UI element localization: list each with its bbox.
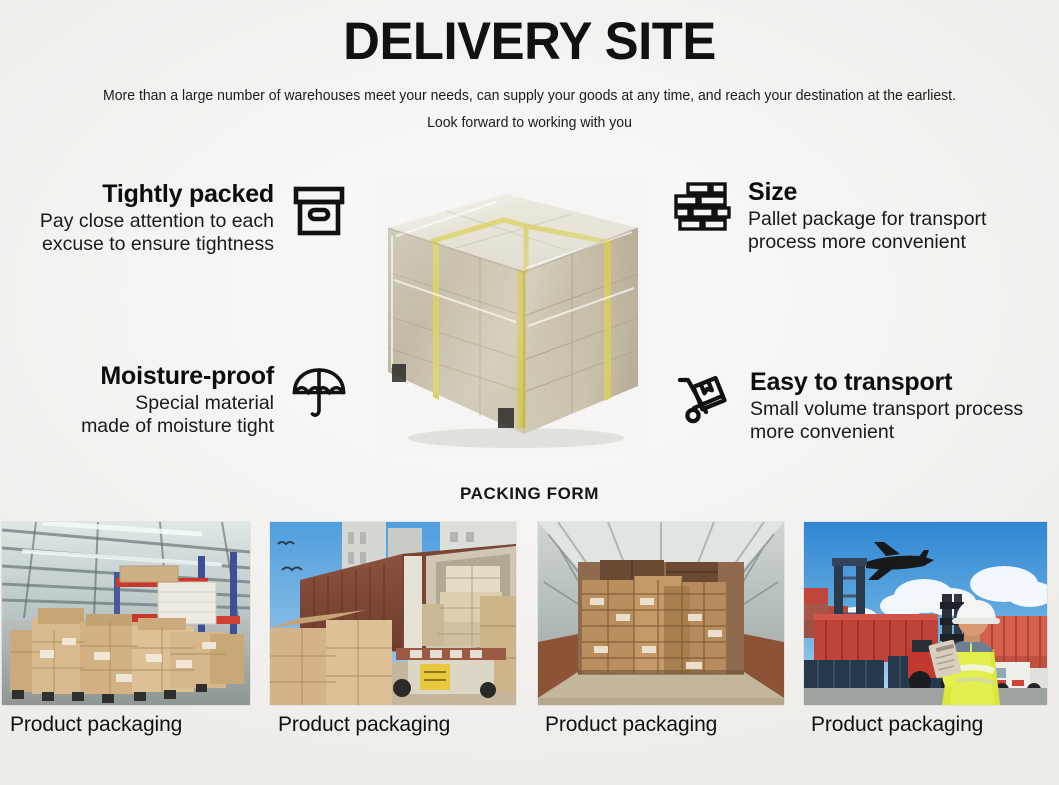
feature-title: Size — [748, 178, 986, 206]
brick-wall-icon — [672, 178, 734, 240]
packing-form-gallery — [0, 522, 1059, 712]
feature-moisture-proof: Moisture-proof Special material made of … — [28, 362, 350, 437]
feature-description-line-2: process more convenient — [748, 231, 986, 254]
container-interior-photo — [538, 522, 784, 705]
gallery-caption: Product packaging — [545, 714, 717, 735]
feature-size: Size Pallet package for transport proces… — [672, 178, 1057, 253]
feature-title: Moisture-proof — [81, 362, 274, 390]
feature-description-line-2: excuse to ensure tightness — [40, 233, 274, 256]
feature-title: Tightly packed — [40, 180, 274, 208]
feature-description: Small volume transport process more conv… — [750, 398, 1023, 443]
archive-box-icon — [288, 180, 350, 242]
feature-description: Special material made of moisture tight — [81, 392, 274, 437]
gallery-caption: Product packaging — [278, 714, 450, 735]
container-loading-photo — [270, 522, 516, 705]
feature-description: Pallet package for transport process mor… — [748, 208, 986, 253]
feature-text-block: Size Pallet package for transport proces… — [748, 178, 986, 253]
gallery-caption: Product packaging — [811, 714, 983, 735]
header-subtitle-line-2: Look forward to working with you — [16, 116, 1043, 131]
gallery-item-container-yard[interactable] — [804, 522, 1047, 705]
feature-description: Pay close attention to each excuse to en… — [40, 210, 274, 255]
gallery-item-warehouse[interactable] — [2, 522, 250, 705]
feature-description-line-2: made of moisture tight — [81, 415, 274, 438]
feature-text-block: Easy to transport Small volume transport… — [750, 368, 1023, 443]
gallery-caption: Product packaging — [10, 714, 182, 735]
page-title: DELIVERY SITE — [21, 14, 1038, 70]
feature-description-line-1: Small volume transport process — [750, 398, 1023, 421]
feature-description-line-1: Special material — [81, 392, 274, 415]
gallery-captions: Product packaging Product packaging Prod… — [0, 714, 1059, 754]
feature-title: Easy to transport — [750, 368, 1023, 396]
page-header: DELIVERY SITE More than a large number o… — [0, 14, 1059, 131]
wrapped-pallet-photo — [376, 176, 648, 454]
feature-tightly-packed: Tightly packed Pay close attention to ea… — [2, 180, 350, 255]
feature-description-line-1: Pallet package for transport — [748, 208, 986, 231]
header-subtitle-line-1: More than a large number of warehouses m… — [16, 89, 1043, 104]
page-root: DELIVERY SITE More than a large number o… — [0, 0, 1059, 785]
umbrella-icon — [288, 362, 350, 424]
feature-description-line-1: Pay close attention to each — [40, 210, 274, 233]
hand-truck-icon — [674, 368, 736, 430]
wrapped-pallet-illustration — [376, 176, 648, 454]
container-yard-photo — [804, 522, 1047, 705]
feature-text-block: Moisture-proof Special material made of … — [81, 362, 274, 437]
gallery-item-container-interior[interactable] — [538, 522, 784, 705]
packing-form-heading: PACKING FORM — [0, 484, 1059, 504]
feature-easy-to-transport: Easy to transport Small volume transport… — [674, 368, 1059, 443]
feature-text-block: Tightly packed Pay close attention to ea… — [40, 180, 274, 255]
gallery-item-container-loading[interactable] — [270, 522, 516, 705]
feature-description-line-2: more convenient — [750, 421, 1023, 444]
warehouse-photo — [2, 522, 250, 705]
